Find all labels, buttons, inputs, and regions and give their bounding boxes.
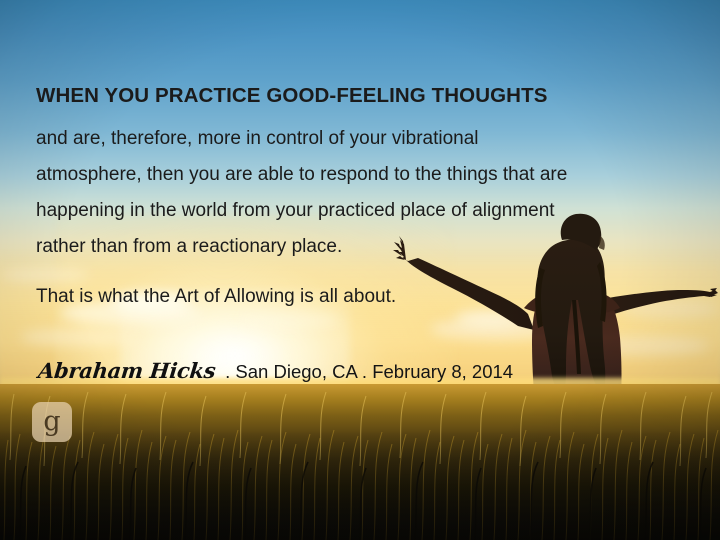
quote-card: WHEN YOU PRACTICE GOOD-FEELING THOUGHTS … (0, 0, 720, 540)
attribution-meta: . San Diego, CA . February 8, 2014 (225, 361, 513, 383)
field-shadow-overlay (0, 430, 720, 540)
quote-text-block: WHEN YOU PRACTICE GOOD-FEELING THOUGHTS … (36, 86, 696, 315)
g-logo-watermark: g (32, 402, 72, 442)
quote-closing-line: That is what the Art of Allowing is all … (36, 279, 696, 315)
quote-body-line-4: rather than from a reactionary place. (36, 229, 696, 265)
author-signature: Abraham Hicks (37, 358, 217, 383)
paragraph-spacer (36, 265, 696, 279)
quote-body-line-2: atmosphere, then you are able to respond… (36, 157, 696, 193)
attribution: Abraham Hicks . San Diego, CA . February… (37, 358, 513, 383)
quote-body-line-1: and are, therefore, more in control of y… (36, 121, 696, 157)
quote-body-line-3: happening in the world from your practic… (36, 193, 696, 229)
watermark-glyph: g (43, 408, 60, 435)
quote-headline: WHEN YOU PRACTICE GOOD-FEELING THOUGHTS (36, 86, 696, 107)
